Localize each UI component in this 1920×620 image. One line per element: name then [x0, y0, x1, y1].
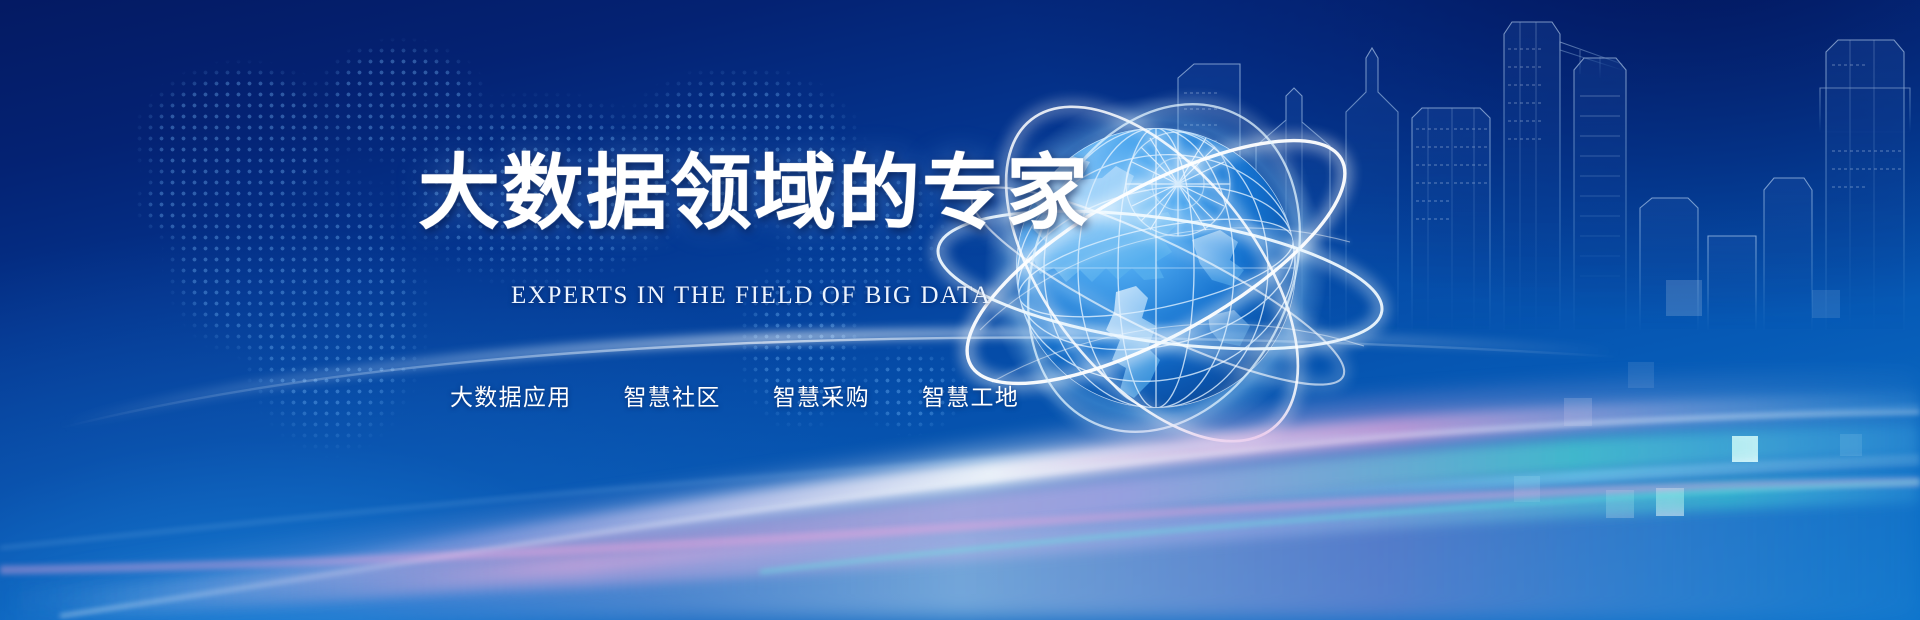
hero-banner: 大数据领域的专家 EXPERTS IN THE FIELD OF BIG DAT…: [0, 0, 1920, 620]
nav-item-smart-procurement[interactable]: 智慧采购: [773, 378, 870, 412]
nav-item-big-data-application[interactable]: 大数据应用: [450, 378, 572, 412]
banner-content: 大数据领域的专家 EXPERTS IN THE FIELD OF BIG DAT…: [0, 0, 1100, 620]
nav-item-smart-construction-site[interactable]: 智慧工地: [922, 378, 1019, 412]
banner-nav: 大数据应用智慧社区智慧采购智慧工地: [450, 378, 1019, 412]
page-title: 大数据领域的专家: [418, 151, 1090, 236]
page-subtitle: EXPERTS IN THE FIELD OF BIG DATA: [511, 282, 992, 310]
nav-item-smart-community[interactable]: 智慧社区: [624, 378, 721, 412]
